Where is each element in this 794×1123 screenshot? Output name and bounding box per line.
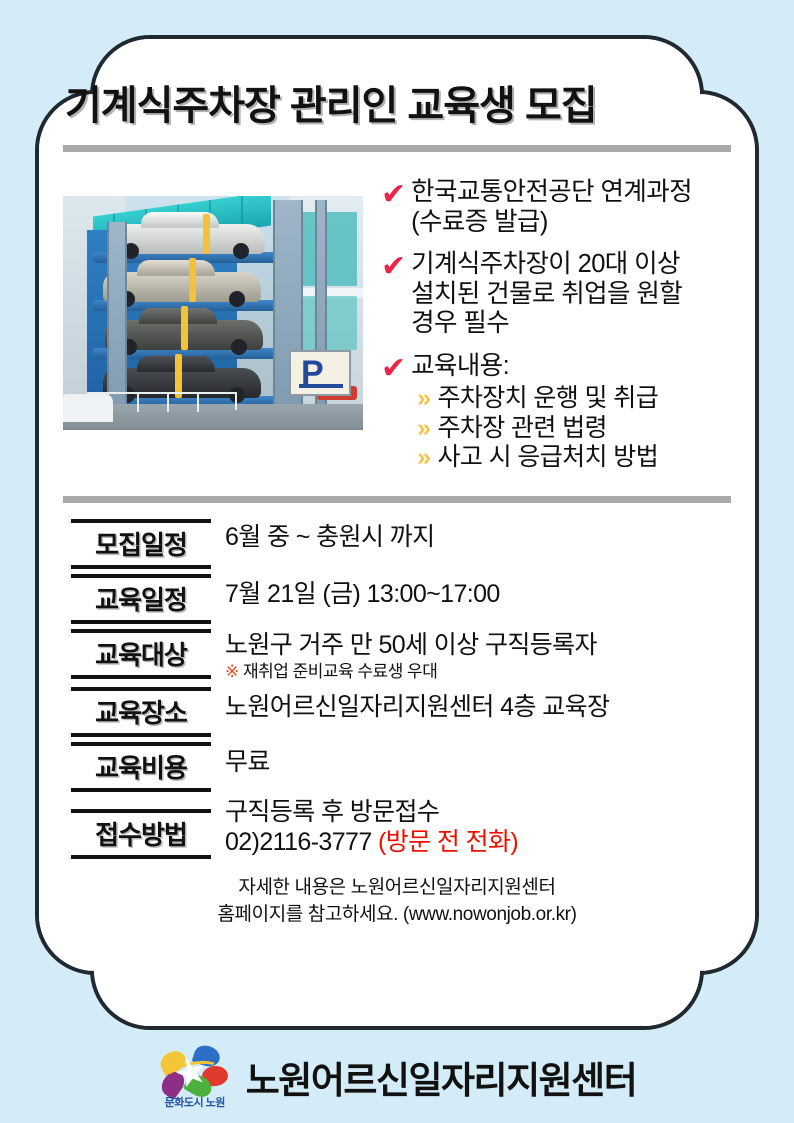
highlight-line: 기계식주차장이 20대 이상 [411,250,682,280]
highlight-line: (수료증 발급) [411,208,692,238]
detail-value: 노원구 거주 만 50세 이상 구직등록자 ※ 재취업 준비교육 수료생 우대 [211,629,723,682]
photo-glass-panel-upper [297,212,357,286]
detail-label: 교육비용 [71,742,211,792]
check-mark-icon: ✔ [381,354,406,473]
detail-label: 교육장소 [71,687,211,737]
footer-note-line-2: 홈페이지를 참고하세요. (www.nowonjob.or.kr) [63,902,731,928]
detail-row-location: 교육장소 노원어르신일자리지원센터 4층 교육장 [71,687,723,737]
check-mark-icon: ✔ [381,180,406,237]
detail-row-training-schedule: 교육일정 7월 21일 (금) 13:00~17:00 [71,574,723,624]
highlight-line: 설치된 건물로 취업을 원할 [411,280,682,310]
curriculum-label: 주차장치 운행 및 취급 [437,384,658,414]
curriculum-label: 주차장 관련 법령 [437,414,607,444]
curriculum-item: » 주차장 관련 법령 [411,414,658,444]
double-chevron-icon: » [417,384,430,413]
detail-value-main: 노원구 거주 만 50세 이상 구직등록자 [225,631,597,659]
organization-logo-strip: 문화도시 노원 노원어르신일자리지원센터 [0,1046,794,1108]
title-divider [63,145,731,152]
parking-tower-photo: P [63,196,363,430]
organization-name: 노원어르신일자리지원센터 [246,1050,636,1104]
highlight-item: ✔ 기계식주차장이 20대 이상 설치된 건물로 취업을 원할 경우 필수 [381,250,731,339]
detail-label: 교육대상 [71,629,211,679]
application-phone-line: 02)2116-3777 (방문 전 전화) [225,827,723,857]
curriculum-list: » 주차장치 운행 및 취급 » 주차장 관련 법령 » 사고 시 응급처치 방… [411,384,658,473]
highlight-line: 경우 필수 [411,309,682,339]
poster-card: 기계식주차장 관리인 교육생 모집 [35,35,759,1030]
detail-label: 접수방법 [71,809,211,859]
photo-foreground-van [63,394,113,422]
detail-row-cost: 교육비용 무료 [71,742,723,792]
double-chevron-icon: » [417,443,430,472]
photo-car [107,224,265,254]
application-method: 구직등록 후 방문접수 [225,797,723,827]
phone-note: (방문 전 전화) [378,828,518,856]
highlight-list: ✔ 한국교통안전공단 연계과정 (수료증 발급) ✔ 기계식주차장이 20대 이… [381,174,731,486]
detail-row-application: 접수방법 구직등록 후 방문접수 02)2116-3777 (방문 전 전화) [71,797,723,859]
double-chevron-icon: » [417,414,430,443]
detail-label: 교육일정 [71,574,211,624]
highlight-text: 기계식주차장이 20대 이상 설치된 건물로 취업을 원할 경우 필수 [411,250,682,339]
photo-chain [189,258,196,302]
detail-table: 모집일정 6월 중 ~ 충원시 까지 교육일정 7월 21일 (금) 13:00… [63,517,731,859]
emblem-slogan: 문화도시 노원 [158,1094,232,1110]
detail-value: 무료 [211,742,723,777]
footer-note: 자세한 내용은 노원어르신일자리지원센터 홈페이지를 참고하세요. (www.n… [63,875,731,927]
detail-row-recruit-period: 모집일정 6월 중 ~ 충원시 까지 [71,517,723,569]
photo-glass-panel-lower [297,296,357,350]
detail-value: 6월 중 ~ 충원시 까지 [211,517,723,552]
note-mark-icon: ※ [225,662,239,681]
photo-chain [181,306,188,350]
highlight-item: ✔ 교육내용: » 주차장치 운행 및 취급 » 주차장 관련 법령 [381,352,731,473]
phone-number: 02)2116-3777 [225,828,378,856]
p-sign-underline [299,384,343,388]
highlight-line: 교육내용: [411,352,658,382]
detail-row-target-audience: 교육대상 노원구 거주 만 50세 이상 구직등록자 ※ 재취업 준비교육 수료… [71,629,723,682]
poster-content: 기계식주차장 관리인 교육생 모집 [35,35,759,1030]
note-text: 재취업 준비교육 수료생 우대 [243,662,437,681]
nowon-emblem-icon: 문화도시 노원 [158,1046,232,1108]
detail-value: 노원어르신일자리지원센터 4층 교육장 [211,687,723,722]
detail-value: 구직등록 후 방문접수 02)2116-3777 (방문 전 전화) [211,797,723,857]
highlight-item: ✔ 한국교통안전공단 연계과정 (수료증 발급) [381,178,731,237]
section-divider [63,496,731,503]
curriculum-item: » 사고 시 응급처치 방법 [411,443,658,473]
detail-label: 모집일정 [71,519,211,569]
poster-title: 기계식주차장 관리인 교육생 모집 [63,73,731,131]
curriculum-item: » 주차장치 운행 및 취급 [411,384,658,414]
footer-note-line-1: 자세한 내용은 노원어르신일자리지원센터 [63,875,731,901]
hero-section: P ✔ 한국교통안전공단 연계과정 (수료증 발급) ✔ 기계식주차장이 20대 [63,174,731,486]
check-mark-icon: ✔ [381,252,406,339]
highlight-text: 교육내용: » 주차장치 운행 및 취급 » 주차장 관련 법령 [411,352,658,473]
detail-value: 7월 21일 (금) 13:00~17:00 [211,574,723,609]
highlight-line: 한국교통안전공단 연계과정 [411,178,692,208]
curriculum-label: 사고 시 응급처치 방법 [437,443,658,473]
parking-p-sign: P [289,350,351,396]
highlight-text: 한국교통안전공단 연계과정 (수료증 발급) [411,178,692,237]
photo-chain [203,214,210,254]
detail-note: ※ 재취업 준비교육 수료생 우대 [225,662,723,682]
